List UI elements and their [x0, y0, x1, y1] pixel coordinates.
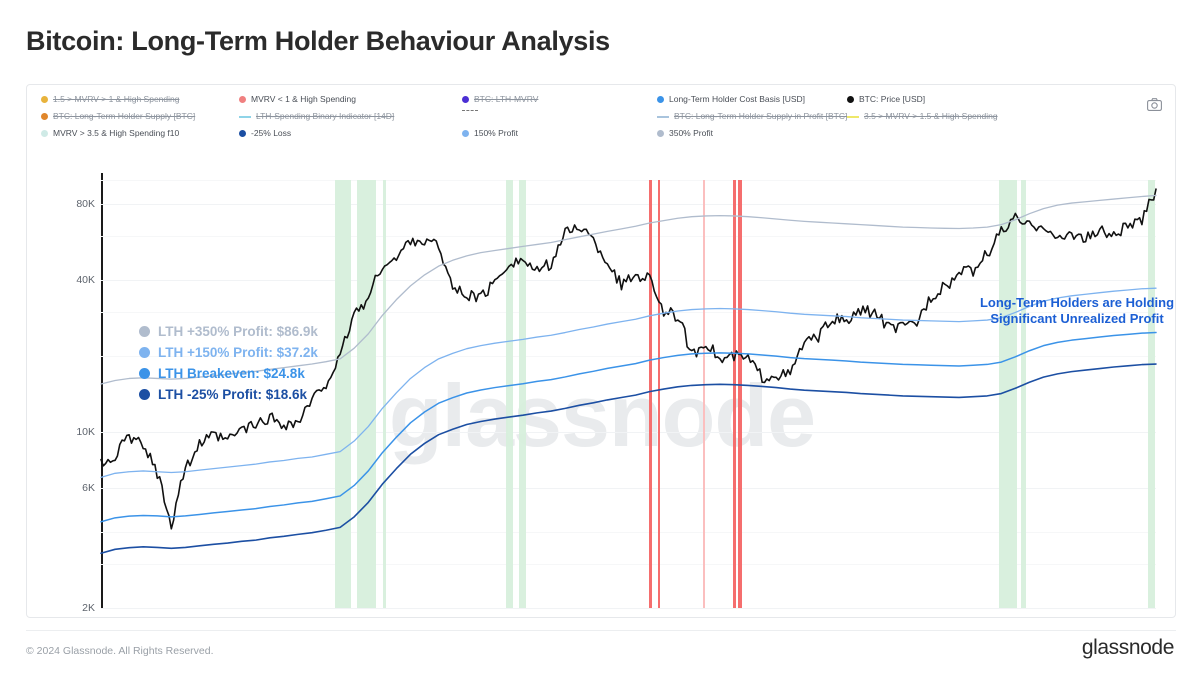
x-axis-tick-label: May '24 [1022, 617, 1058, 618]
legend-line-icon [847, 116, 859, 118]
legend-item[interactable]: BTC: Long-Term Holder Supply in Profit [… [657, 110, 847, 123]
callout-line-1: Long-Term Holders are Holding [957, 295, 1176, 311]
annotation-dot [139, 326, 150, 337]
legend-dot-icon [41, 96, 48, 103]
level-annotations: LTH +350% Profit: $86.9k LTH +150% Profi… [139, 321, 318, 405]
x-axis-tick-label: May '21 [395, 617, 431, 618]
gridline [101, 608, 1156, 609]
x-axis-tick-label: May '23 [813, 617, 849, 618]
glassnode-logo: glassnode [1082, 636, 1174, 660]
legend-item[interactable]: Long-Term Holder Cost Basis [USD] [657, 93, 805, 106]
annotation-dot [139, 389, 150, 400]
legend-dot-icon [847, 96, 854, 103]
x-axis-tick-label: Jan '20 [119, 617, 153, 618]
annotation-label: LTH -25% Profit: $18.6k [158, 387, 307, 402]
x-axis-tick-label: May '20 [187, 617, 223, 618]
annotation-dot [139, 368, 150, 379]
plot-area: glassnode 2K6K10K40K80K Jan '20May '20Se… [27, 135, 1176, 618]
legend-item[interactable]: BTC: Price [USD] [847, 93, 925, 106]
legend-row-1: BTC: Long-Term Holder Supply [BTC]LTH-Sp… [41, 110, 1176, 123]
annotation-label: LTH Breakeven: $24.8k [158, 366, 305, 381]
x-axis-tick-label: Jan '22 [537, 617, 571, 618]
legend-line-icon [239, 116, 251, 118]
legend-dot-icon [239, 96, 246, 103]
chart-page: Bitcoin: Long-Term Holder Behaviour Anal… [0, 0, 1200, 691]
x-axis-tick-label: Sep '22 [675, 617, 710, 618]
camera-icon[interactable] [1143, 93, 1165, 115]
legend-label: BTC: Long-Term Holder Supply [BTC] [53, 110, 195, 123]
legend-item[interactable] [462, 110, 483, 111]
legend-line-icon [657, 116, 669, 118]
chart-legend: 1.5 > MVRV > 1 & High SpendingMVRV < 1 &… [27, 85, 1176, 135]
annotation-row: LTH +350% Profit: $86.9k [139, 321, 318, 342]
x-axis-tick-label: Jan '24 [954, 617, 988, 618]
legend-item[interactable]: 1.5 > MVRV > 1 & High Spending [41, 93, 179, 106]
legend-item[interactable]: 3.5 > MVRV > 1.5 & High Spending [847, 110, 998, 123]
legend-dot-icon [462, 96, 469, 103]
copyright-text: © 2024 Glassnode. All Rights Reserved. [26, 645, 214, 657]
legend-dot-icon [657, 96, 664, 103]
legend-row-0: 1.5 > MVRV > 1 & High SpendingMVRV < 1 &… [41, 93, 1176, 106]
y-axis-tick-label: 10K [35, 426, 95, 438]
annotation-dot [139, 347, 150, 358]
legend-dot-icon [41, 113, 48, 120]
page-title: Bitcoin: Long-Term Holder Behaviour Anal… [26, 26, 610, 57]
y-axis-tick-label: 2K [35, 602, 95, 614]
legend-item[interactable]: LTH-Spending Binary Indicator [14D] [239, 110, 394, 123]
legend-item[interactable]: BTC: LTH-MVRV [462, 93, 538, 106]
footer-divider [26, 630, 1176, 631]
chart-card: 1.5 > MVRV > 1 & High SpendingMVRV < 1 &… [26, 84, 1176, 618]
x-axis-tick-label: Sep '20 [258, 617, 293, 618]
annotation-label: LTH +350% Profit: $86.9k [158, 324, 318, 339]
x-axis-tick-label: Sep '21 [466, 617, 501, 618]
x-axis-tick-label: Jan '23 [745, 617, 779, 618]
legend-label: 1.5 > MVRV > 1 & High Spending [53, 93, 179, 106]
callout-line-2: Significant Unrealized Profit [957, 311, 1176, 327]
legend-label: BTC: Long-Term Holder Supply in Profit [… [674, 110, 847, 123]
y-axis-tick-label: 40K [35, 274, 95, 286]
x-axis-tick-label: Sep '24 [1093, 617, 1128, 618]
legend-label: LTH-Spending Binary Indicator [14D] [256, 110, 394, 123]
legend-item[interactable]: MVRV < 1 & High Spending [239, 93, 356, 106]
annotation-row: LTH Breakeven: $24.8k [139, 363, 318, 384]
legend-label: BTC: LTH-MVRV [474, 93, 538, 106]
legend-dash-icon [462, 110, 478, 111]
annotation-row: LTH -25% Profit: $18.6k [139, 384, 318, 405]
y-axis-tick-label: 80K [35, 198, 95, 210]
legend-label: BTC: Price [USD] [859, 93, 925, 106]
legend-label: 3.5 > MVRV > 1.5 & High Spending [864, 110, 998, 123]
x-axis-tick-label: Sep '23 [883, 617, 918, 618]
legend-label: MVRV < 1 & High Spending [251, 93, 356, 106]
chart-callout: Long-Term Holders are Holding Significan… [957, 295, 1176, 327]
annotation-row: LTH +150% Profit: $37.2k [139, 342, 318, 363]
x-axis-tick-label: Jan '21 [328, 617, 362, 618]
y-axis-tick-label: 6K [35, 482, 95, 494]
annotation-label: LTH +150% Profit: $37.2k [158, 345, 318, 360]
legend-item[interactable]: BTC: Long-Term Holder Supply [BTC] [41, 110, 195, 123]
x-axis-tick-label: May '22 [604, 617, 640, 618]
legend-label: Long-Term Holder Cost Basis [USD] [669, 93, 805, 106]
